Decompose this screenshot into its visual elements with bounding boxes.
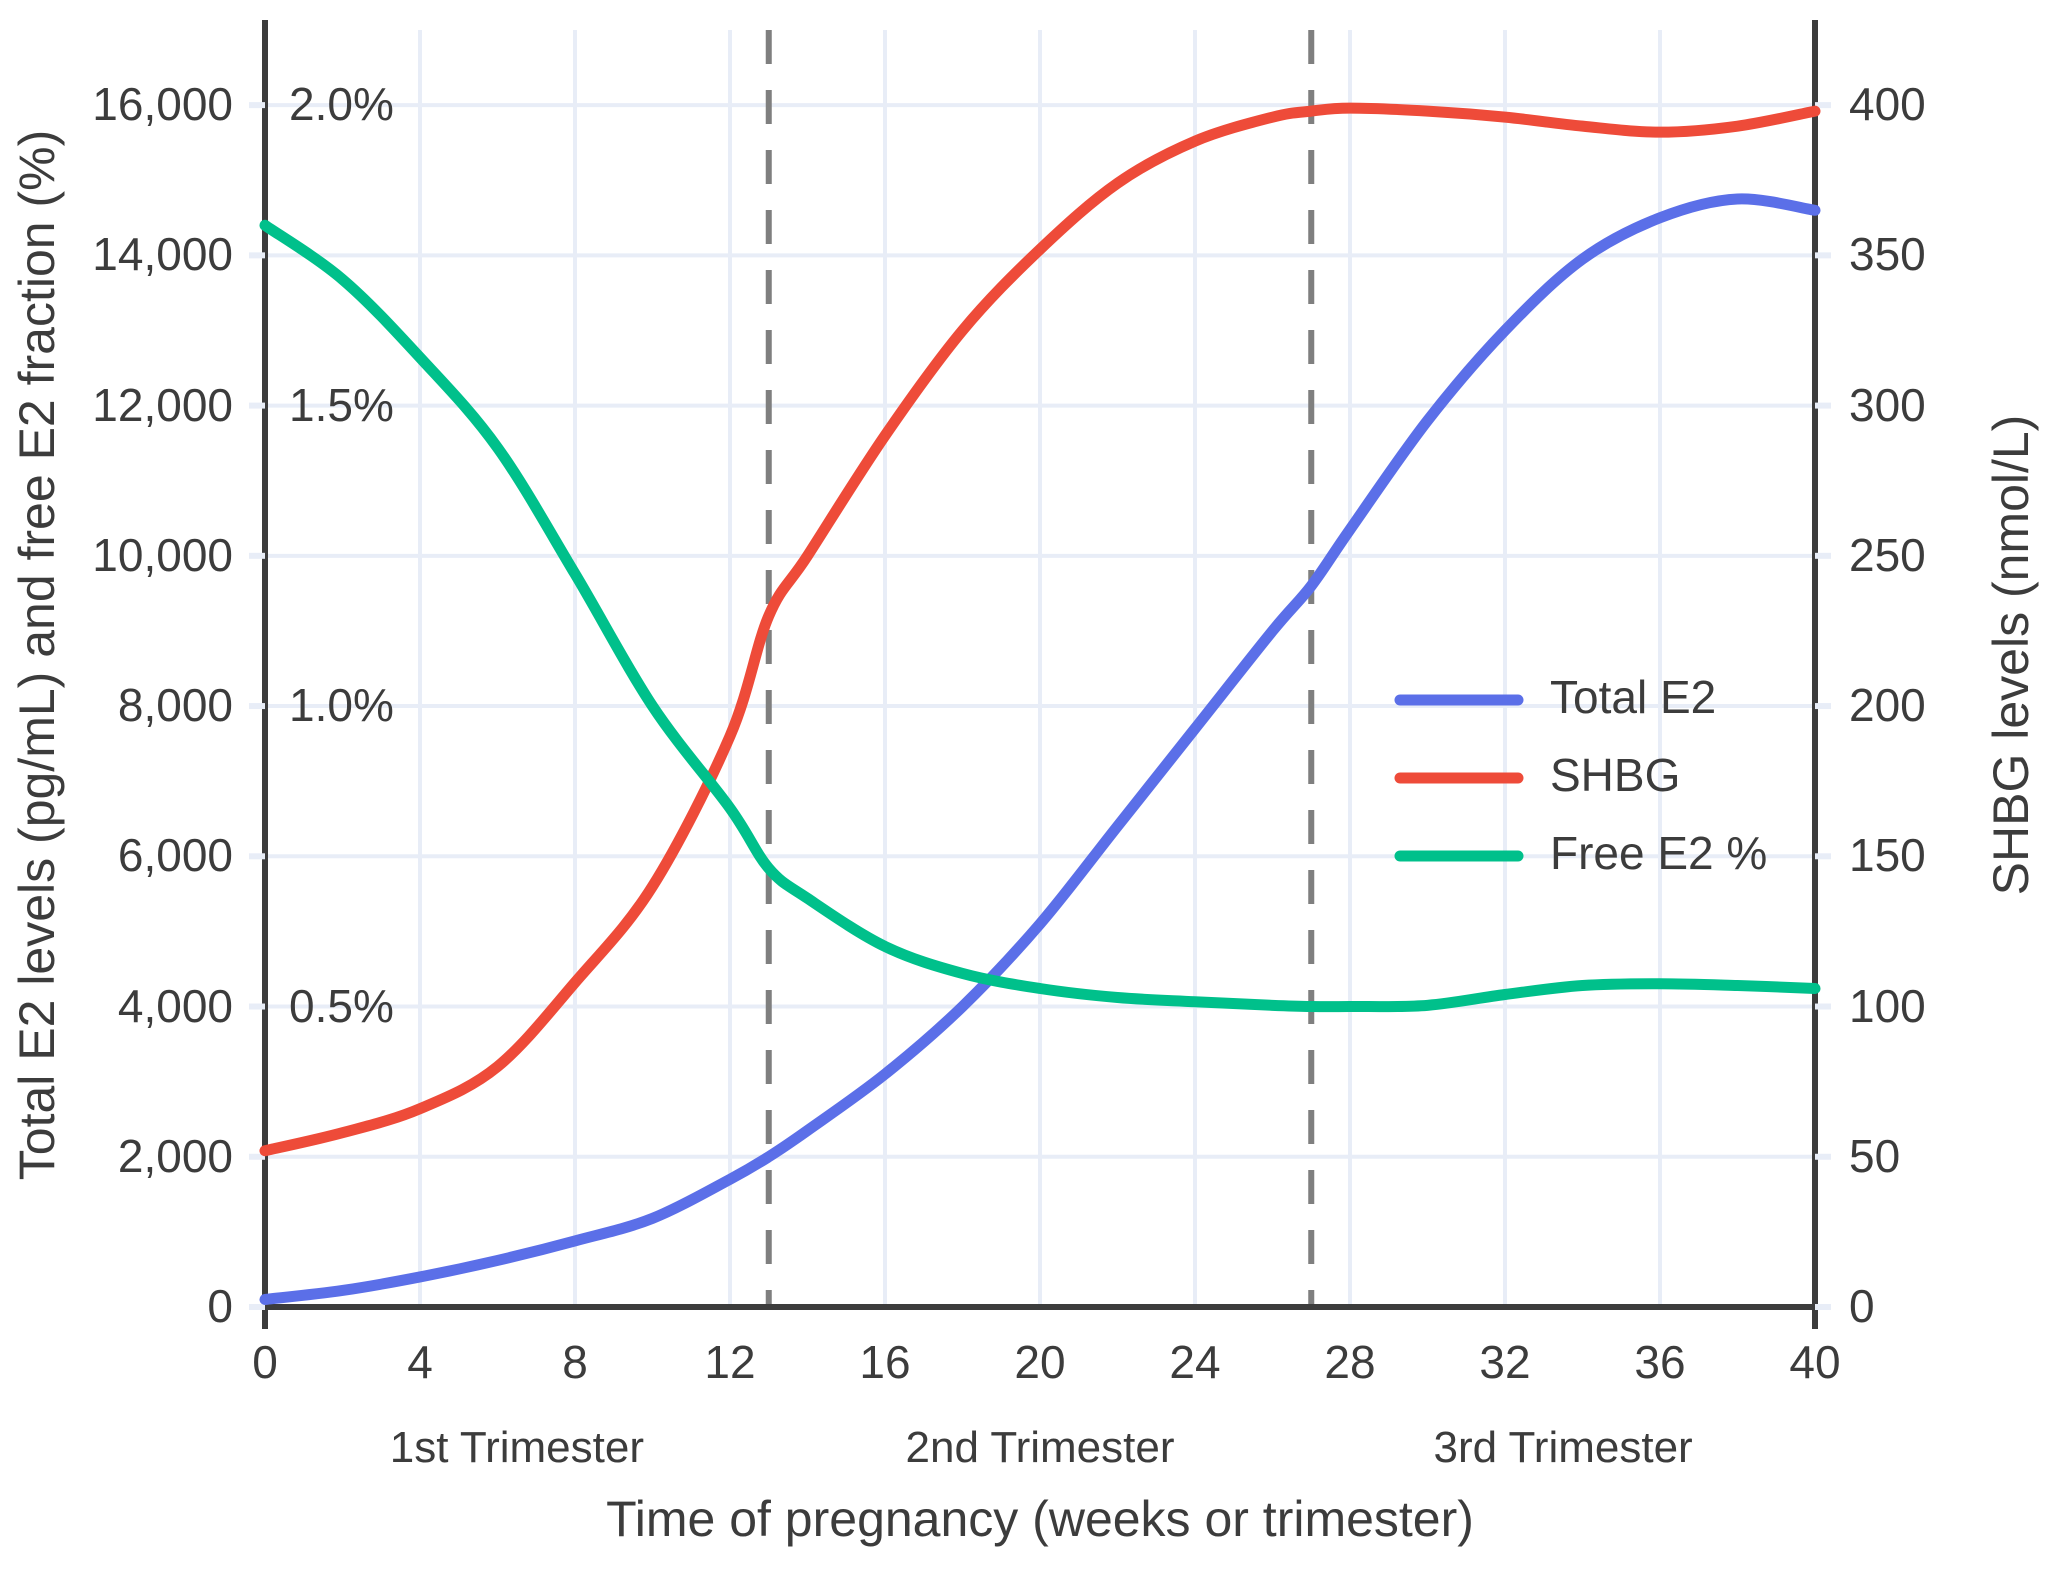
y-tick-right-400: 400: [1849, 77, 2048, 131]
legend-swatches: [1400, 700, 1518, 856]
x-tick-24: 24: [1115, 1335, 1275, 1389]
x-tick-4: 4: [340, 1335, 500, 1389]
trimester-label-1st-trimester: 1st Trimester: [287, 1423, 747, 1473]
trimester-label-3rd-trimester: 3rd Trimester: [1333, 1423, 1793, 1473]
y-tick-right-100: 100: [1849, 979, 2048, 1033]
y-tick-left-12000: 12,000: [0, 378, 233, 432]
y-tick-left-4000: 4,000: [0, 979, 233, 1033]
y-tick-right-350: 350: [1849, 227, 2048, 281]
y-tick-right-50: 50: [1849, 1129, 2048, 1183]
x-tick-36: 36: [1580, 1335, 1740, 1389]
pct-annotation-1-0pct: 1.0%: [289, 678, 394, 732]
pct-annotation-1-5pct: 1.5%: [289, 378, 394, 432]
gridlines: [265, 30, 1815, 1307]
pct-annotation-0-5pct: 0.5%: [289, 979, 394, 1033]
x-tick-8: 8: [495, 1335, 655, 1389]
pct-annotation-2-0pct: 2.0%: [289, 77, 394, 131]
x-tick-12: 12: [650, 1335, 810, 1389]
y-tick-left-16000: 16,000: [0, 77, 233, 131]
y-tick-right-0: 0: [1849, 1279, 2048, 1333]
legend-label-free-e2: Free E2 %: [1550, 826, 1767, 880]
y-tick-right-250: 250: [1849, 528, 2048, 582]
x-tick-40: 40: [1735, 1335, 1895, 1389]
x-tick-28: 28: [1270, 1335, 1430, 1389]
chart-figure: Total E2 levels (pg/mL) and free E2 frac…: [0, 0, 2048, 1582]
x-tick-20: 20: [960, 1335, 1120, 1389]
trimester-label-2nd-trimester: 2nd Trimester: [810, 1423, 1270, 1473]
y-tick-right-300: 300: [1849, 378, 2048, 432]
y-tick-left-6000: 6,000: [0, 828, 233, 882]
y-tick-left-14000: 14,000: [0, 227, 233, 281]
y-tick-left-0: 0: [0, 1279, 233, 1333]
y-tick-right-150: 150: [1849, 828, 2048, 882]
legend-label-shbg: SHBG: [1550, 748, 1680, 802]
x-tick-16: 16: [805, 1335, 965, 1389]
x-tick-0: 0: [185, 1335, 345, 1389]
y-tick-left-8000: 8,000: [0, 678, 233, 732]
y-tick-left-10000: 10,000: [0, 528, 233, 582]
legend-label-total-e2: Total E2: [1550, 670, 1716, 724]
x-tick-32: 32: [1425, 1335, 1585, 1389]
y-tick-left-2000: 2,000: [0, 1129, 233, 1183]
y-tick-right-200: 200: [1849, 678, 2048, 732]
